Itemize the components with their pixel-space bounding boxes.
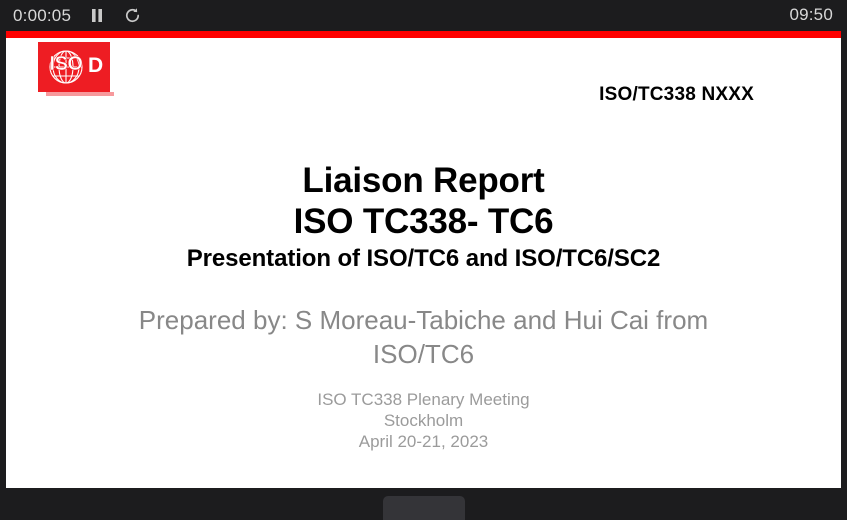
prepared-by-line-2: ISO/TC6 (6, 337, 841, 371)
elapsed-time: 0:00:05 (13, 7, 71, 24)
player-control-handle[interactable] (383, 496, 465, 520)
player-controls-right: 09:50 (789, 6, 847, 25)
player-top-bar: 0:00:05 09:50 (0, 0, 847, 31)
pause-icon[interactable] (88, 7, 106, 25)
iso-logo: ISO D (38, 42, 110, 92)
iso-wordmark: ISO (44, 54, 88, 74)
remaining-time: 09:50 (789, 5, 833, 24)
slide-prepared-by: Prepared by: S Moreau-Tabiche and Hui Ca… (6, 303, 841, 371)
loop-icon[interactable] (123, 7, 141, 25)
meeting-name: ISO TC338 Plenary Meeting (6, 389, 841, 410)
logo-shadow (46, 92, 114, 96)
slide-title-line-3: Presentation of ISO/TC6 and ISO/TC6/SC2 (6, 243, 841, 274)
player-bottom-bar (0, 488, 847, 520)
meeting-location: Stockholm (6, 410, 841, 431)
iso-side-mark: D (88, 52, 104, 80)
slide-title-block: Liaison Report ISO TC338- TC6 Presentati… (6, 160, 841, 274)
player-controls-left: 0:00:05 (0, 7, 141, 25)
document-number: ISO/TC338 NXXX (599, 84, 754, 106)
presentation-slide[interactable]: ISO D ISO/TC338 NXXX Liaison Report ISO … (6, 31, 841, 488)
slide-title-line-1: Liaison Report (6, 160, 841, 201)
slide-title-line-2: ISO TC338- TC6 (6, 201, 841, 242)
slide-meeting-info: ISO TC338 Plenary Meeting Stockholm Apri… (6, 389, 841, 452)
slide-accent-bar (6, 31, 841, 38)
video-player: 0:00:05 09:50 (0, 0, 847, 520)
meeting-date: April 20-21, 2023 (6, 431, 841, 452)
prepared-by-line-1: Prepared by: S Moreau-Tabiche and Hui Ca… (6, 303, 841, 337)
